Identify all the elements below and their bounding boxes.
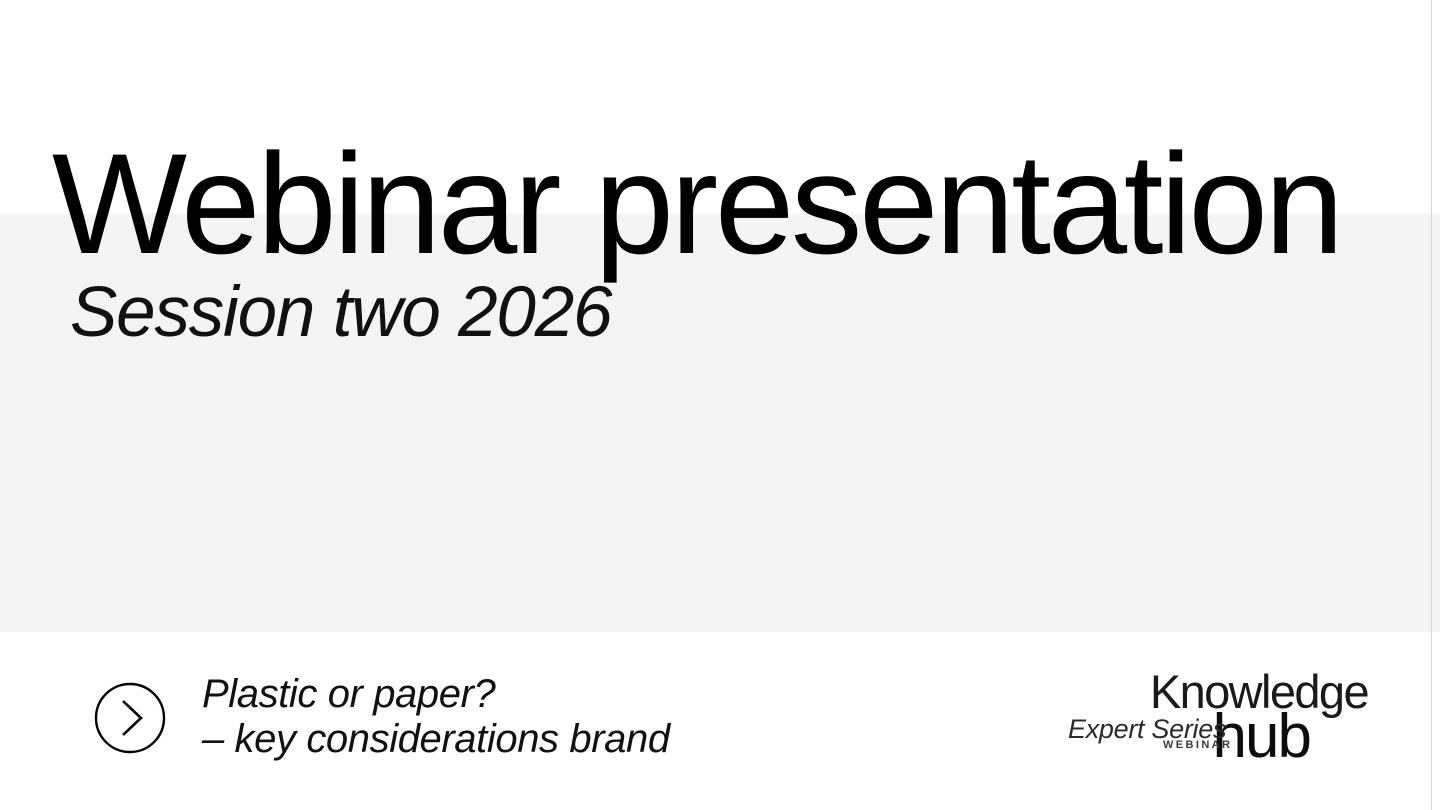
slide-subtitle: Session two 2026 xyxy=(70,277,611,348)
knowledge-hub-logo: Knowledge hub Expert Series WEBINAR xyxy=(1068,668,1368,764)
presentation-slide: Webinar presentation Session two 2026 Pl… xyxy=(0,0,1440,810)
caption-line-1: Plastic or paper? xyxy=(202,672,670,717)
caption-line-2: – key considerations brand xyxy=(202,717,670,762)
slide-edge-rule xyxy=(1431,0,1432,810)
chevron-right-circle-icon xyxy=(94,682,166,754)
slide-title: Webinar presentation xyxy=(52,133,1341,276)
logo-secondary-word: hub xyxy=(1213,706,1310,768)
caption-text-block: Plastic or paper? – key considerations b… xyxy=(202,672,670,764)
logo-sub-tagline: WEBINAR xyxy=(1163,740,1232,751)
session-caption: Plastic or paper? – key considerations b… xyxy=(94,672,670,764)
